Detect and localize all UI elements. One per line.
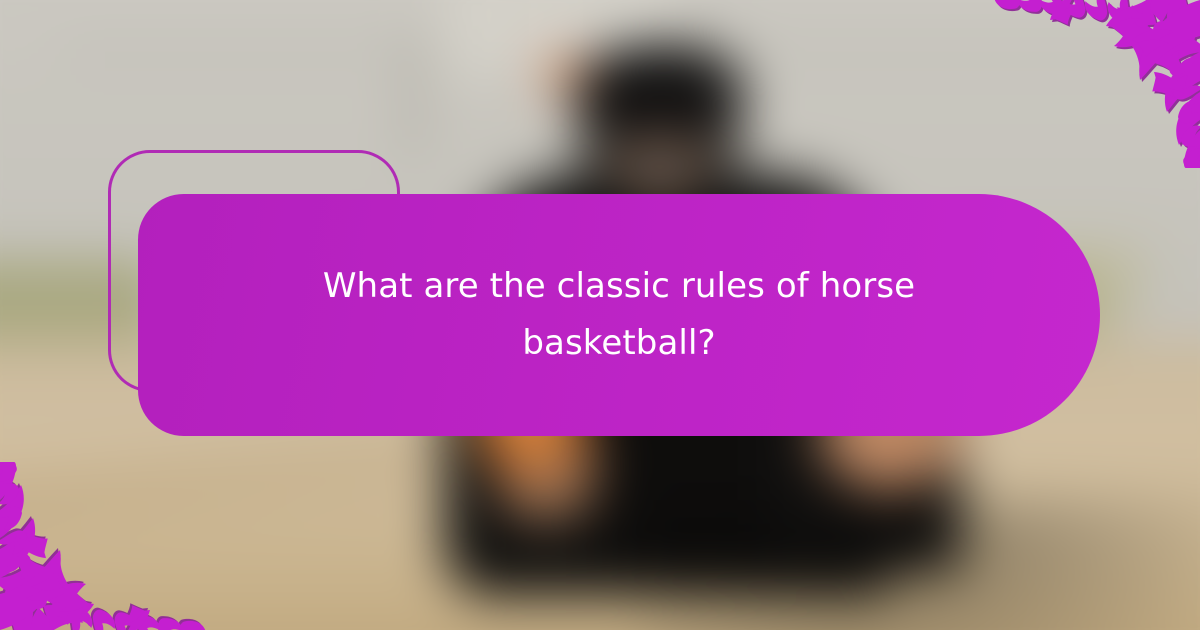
question-card-graphic: What are the classic rules of horse bask… [0, 0, 1200, 630]
question-text: What are the classic rules of horse bask… [299, 258, 939, 372]
background-shadow [640, 500, 1200, 630]
backboard-inner-square [496, 2, 616, 64]
hoop-support-post-left [406, 36, 422, 156]
question-card: What are the classic rules of horse bask… [138, 194, 1100, 436]
player-hair [576, 44, 744, 136]
